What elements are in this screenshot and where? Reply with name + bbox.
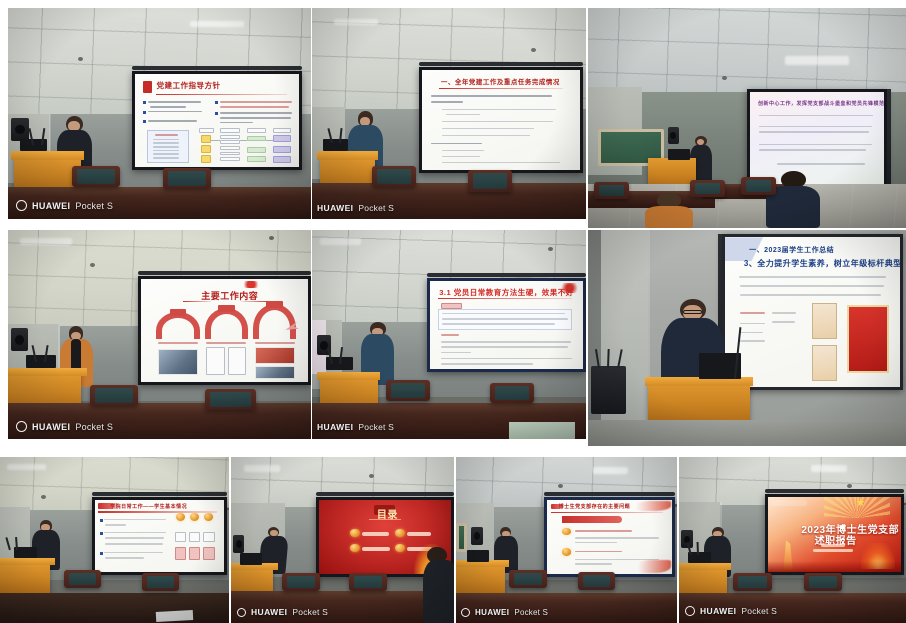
diagram-node <box>220 135 240 139</box>
block-header <box>562 516 622 523</box>
diagram-node <box>220 157 240 161</box>
slide-footer-line <box>821 544 845 547</box>
toc-bullet-icon <box>350 529 359 537</box>
chair-pad <box>77 169 115 184</box>
slide-document <box>228 347 246 376</box>
photo-4-image: 主要工作内容 <box>8 230 311 439</box>
laptop <box>668 149 690 160</box>
arch-cap <box>266 301 283 308</box>
photo-5-image: 3.1 党员日常教育方法生硬，效果不好 <box>312 230 586 439</box>
slide-text-line <box>441 363 533 365</box>
smoke-detector-icon <box>369 474 374 478</box>
diagram-item <box>153 157 179 159</box>
ceiling-light <box>811 465 847 472</box>
diagram-node <box>189 547 201 560</box>
slide-surface: 学院日常工作——学生基本情况 <box>95 500 224 572</box>
diagram-connector <box>266 140 273 141</box>
bullet-marker <box>215 101 218 104</box>
ceiling-light <box>593 467 628 474</box>
toc-item-label <box>407 532 431 536</box>
slide-text-line <box>772 312 797 314</box>
bullet-marker <box>100 532 103 535</box>
bullet-marker <box>100 519 103 522</box>
ceiling-light <box>785 56 849 65</box>
slide-text-line <box>740 332 763 334</box>
certificate <box>847 305 889 374</box>
photo-cell-1[interactable]: 党建工作指导方针 <box>8 8 311 219</box>
numbered-bullet-icon <box>562 548 571 555</box>
arch-cap <box>218 305 235 312</box>
laptop <box>467 550 489 562</box>
slide-text-line <box>575 530 632 532</box>
slide-text-line <box>442 109 556 111</box>
ribbon-decor <box>638 560 670 573</box>
slide-text-line <box>220 101 292 103</box>
ceiling-light <box>334 19 378 25</box>
ceiling-light <box>190 21 245 27</box>
slide-text-line <box>777 163 865 165</box>
star-icon: ★ <box>856 498 866 509</box>
slide-text-line <box>740 285 884 287</box>
chair <box>578 572 616 590</box>
diagram-node <box>203 547 215 560</box>
diagram-header <box>199 128 214 133</box>
av-equipment-rack <box>591 366 626 414</box>
slide-text-line <box>442 318 567 320</box>
loudspeaker <box>233 535 244 553</box>
diagram-node <box>247 136 267 142</box>
diagram-header <box>247 128 267 133</box>
slide-text-line <box>104 519 166 521</box>
chair <box>733 573 772 591</box>
smoke-detector-icon <box>847 484 852 488</box>
diagram-node <box>201 135 211 143</box>
photo-cell-8[interactable]: 目录 <box>231 457 454 623</box>
institution-banner <box>772 500 806 506</box>
screen-roller <box>419 62 583 66</box>
diagram-node <box>189 532 201 542</box>
loudspeaker <box>471 527 482 545</box>
chair-pad <box>147 576 174 588</box>
slide-text-line <box>442 135 529 137</box>
arch-cap <box>170 309 187 316</box>
toc-bullet-icon <box>395 544 404 552</box>
lectern-top <box>317 151 377 159</box>
slide-text-line <box>220 112 292 114</box>
chair <box>72 166 120 187</box>
toc-bullet-icon <box>395 529 404 537</box>
screen-roller <box>765 489 903 493</box>
arch-shape <box>205 308 248 339</box>
diagram-node <box>175 532 187 542</box>
chair <box>64 570 101 588</box>
slide-surface: 一、全年党建工作及重点任务完成情况 <box>422 70 580 170</box>
photo-1-image: 党建工作指导方针 <box>8 8 311 219</box>
diagram-header <box>273 128 291 133</box>
diagram-item <box>153 146 179 148</box>
slide-text-line <box>431 101 463 103</box>
photo-cell-10[interactable]: ★ 2023年博士生党支部 述职报告 <box>679 457 906 623</box>
bullet-marker <box>143 120 146 123</box>
screen-roller <box>427 273 586 277</box>
slide-text-line <box>441 346 568 348</box>
chair-pad <box>168 171 206 186</box>
slide-text-line <box>575 537 660 539</box>
chair-pad <box>599 185 624 197</box>
bullet-marker <box>100 552 103 555</box>
chair <box>594 182 629 200</box>
photo-collage: 党建工作指导方针 <box>0 0 906 623</box>
slide-text-line <box>759 126 871 128</box>
conference-table <box>312 183 586 219</box>
pillar-label <box>158 342 198 344</box>
photo-cell-2[interactable]: 一、全年党建工作及重点任务完成情况 <box>312 8 586 219</box>
chair-pad <box>473 173 507 188</box>
screen-roller <box>138 271 311 275</box>
slide-text-line <box>442 128 534 130</box>
glasses-icon <box>683 310 702 314</box>
conference-table <box>0 593 229 623</box>
projection-screen: 主要工作内容 <box>138 276 311 385</box>
slide-title: 3.1 党员日常教育方法生硬，效果不好 <box>439 287 574 298</box>
slide-text-line <box>105 557 144 559</box>
diagram-node <box>204 513 213 521</box>
projection-screen: 一、全年党建工作及重点任务完成情况 <box>419 67 583 173</box>
slide-text-line <box>220 106 289 108</box>
smoke-detector-icon <box>558 484 563 488</box>
photo-3-image: 创新中心工作，发挥党支部战斗堡垒和党员先锋模范作用 <box>588 8 906 228</box>
photo-cell-4[interactable]: 主要工作内容 <box>8 230 311 439</box>
title-underline <box>98 511 217 513</box>
slide-text-line <box>759 149 866 151</box>
section-label <box>740 312 765 314</box>
chair-pad <box>287 576 315 588</box>
slide-photo <box>158 349 198 376</box>
audience-body <box>423 560 454 623</box>
audience-member <box>645 193 693 228</box>
slide-text-line <box>772 321 795 323</box>
lectern-top <box>11 151 84 159</box>
ceiling-light <box>244 465 280 472</box>
slide-title: 创新中心工作，发挥党支部战斗堡垒和党员先锋模范作用 <box>758 100 884 107</box>
diagram-node <box>176 513 185 521</box>
photo-6-image: 一、2023届学生工作总结 3、全力提升学生素养，树立年级标杆典型 <box>588 230 906 446</box>
screen-roller <box>92 492 227 496</box>
chair <box>205 389 257 410</box>
diagram-node <box>273 156 291 163</box>
conference-table <box>231 591 454 623</box>
title-underline <box>183 301 211 303</box>
title-underline <box>439 88 563 90</box>
slide-text-line <box>740 323 765 325</box>
slide-surface: 主要工作内容 <box>141 279 308 382</box>
title-underline <box>551 512 663 514</box>
screen-roller <box>132 66 302 70</box>
slide-4: 主要工作内容 <box>141 279 308 382</box>
title-underline <box>156 94 287 96</box>
chair-pad <box>377 169 411 184</box>
chair <box>490 383 534 404</box>
chair <box>349 573 387 591</box>
chair-pad <box>695 183 720 195</box>
screen-roller <box>316 492 454 496</box>
party-emblem-icon <box>143 81 151 93</box>
certificate <box>812 345 837 381</box>
chair <box>509 570 547 588</box>
chair <box>163 168 211 189</box>
projection-screen: 学院日常工作——学生基本情况 <box>92 497 227 575</box>
diagram-node <box>203 532 215 542</box>
photo-cell-6[interactable]: 一、2023届学生工作总结 3、全力提升学生素养，树立年级标杆典型 <box>588 230 906 446</box>
diagram-header <box>220 128 240 133</box>
chair-pad <box>738 576 767 588</box>
lectern-top <box>679 563 731 570</box>
slide-10: ★ 2023年博士生党支部 述职报告 <box>768 497 900 572</box>
paper-document <box>509 422 575 439</box>
chair-pad <box>391 383 425 398</box>
diagram-node <box>220 152 240 156</box>
slide-photo <box>255 366 295 378</box>
projection-screen: 博士生党支部存在的主要问题 <box>544 497 674 577</box>
slide-title: 一、2023届学生工作总结 <box>749 245 834 255</box>
slide-text-line <box>740 340 765 342</box>
chair <box>386 380 430 401</box>
diagram-node <box>247 156 267 162</box>
loudspeaker <box>11 118 29 141</box>
chair-pad <box>746 180 771 192</box>
chair <box>690 180 725 198</box>
diagram-item <box>153 139 179 141</box>
photo-cell-3[interactable]: 创新中心工作，发挥党支部战斗堡垒和党员先锋模范作用 <box>588 8 906 228</box>
slide-text-line <box>759 144 871 146</box>
chair-pad <box>809 576 838 588</box>
smoke-detector-icon <box>548 247 553 251</box>
slide-text-line <box>740 294 880 296</box>
laptop <box>688 552 711 564</box>
diagram-item <box>153 142 179 144</box>
diagram-node <box>201 145 211 153</box>
slide-text-line <box>220 117 290 119</box>
ribbon-decor <box>636 501 671 511</box>
laptop <box>240 553 262 565</box>
chair-pad <box>95 388 133 403</box>
chair <box>468 170 512 191</box>
slide-text-line <box>575 542 617 544</box>
slide-text-line <box>442 162 559 164</box>
slide-text-line <box>148 101 200 103</box>
slide-text-line <box>442 156 480 158</box>
slide-7: 学院日常工作——学生基本情况 <box>95 500 224 572</box>
chair-pad <box>354 576 382 588</box>
photo-2-image: 一、全年党建工作及重点任务完成情况 <box>312 8 586 219</box>
toc-item-label <box>362 547 390 551</box>
slide-2: 一、全年党建工作及重点任务完成情况 <box>422 70 580 170</box>
slide-text-line <box>442 323 555 325</box>
slide-text-line <box>739 276 886 278</box>
screen-roller <box>544 492 674 496</box>
toc-bullet-icon <box>350 544 359 552</box>
screen-rail <box>887 89 891 188</box>
certificate <box>812 303 837 339</box>
bullet-marker <box>215 112 218 115</box>
photo-9-image: 博士生党支部存在的主要问题 <box>456 457 677 623</box>
slide-title: 一、全年党建工作及重点任务完成情况 <box>441 76 560 86</box>
diagram-node <box>273 135 291 142</box>
photo-7-image: 学院日常工作——学生基本情况 <box>0 457 229 623</box>
chair <box>142 573 179 591</box>
slide-text-line <box>441 352 472 354</box>
floor <box>588 420 906 446</box>
smoke-detector-icon <box>269 236 274 240</box>
slide-text-line <box>220 122 253 124</box>
slide-text-line <box>104 532 166 534</box>
slide-text-line <box>431 95 551 97</box>
chair <box>372 166 416 187</box>
ceiling-light <box>20 238 72 244</box>
projection-screen: 一、2023届学生工作总结 3、全力提升学生素养，树立年级标杆典型 <box>722 234 903 390</box>
bullet-marker <box>143 101 146 104</box>
laptop <box>323 139 348 152</box>
photo-8-image: 目录 <box>231 457 454 623</box>
audience-member <box>423 547 454 623</box>
slide-9: 博士生党支部存在的主要问题 <box>547 500 671 574</box>
slide-5: 3.1 党员日常教育方法生硬，效果不好 <box>430 281 583 369</box>
diagram-node <box>220 146 240 150</box>
diagram-label <box>155 134 178 136</box>
chair-pad <box>495 386 529 401</box>
slide-title: 博士生党支部存在的主要问题 <box>559 503 631 510</box>
slide-surface: ★ 2023年博士生党支部 述职报告 <box>768 497 900 572</box>
slide-text-line <box>759 131 869 133</box>
audience-body <box>645 206 693 228</box>
diagram-node <box>247 147 267 153</box>
slide-photo <box>255 347 295 364</box>
ceiling-light <box>320 238 361 244</box>
diagram-connector <box>211 140 221 141</box>
photo-cell-7[interactable]: 学院日常工作——学生基本情况 <box>0 457 229 623</box>
conference-table <box>8 403 311 439</box>
slide-6: 一、2023届学生工作总结 3、全力提升学生素养，树立年级标杆典型 <box>725 237 900 387</box>
university-logo-icon <box>241 281 261 288</box>
diagram-node <box>273 146 291 153</box>
chair <box>804 573 843 591</box>
slide-text-line <box>446 114 481 116</box>
chair-pad <box>69 573 96 585</box>
slide-text-line <box>431 143 482 145</box>
ceiling-light <box>7 464 46 471</box>
diagram-node <box>201 155 211 162</box>
bullet-marker <box>143 111 146 114</box>
diagram-connector <box>240 140 247 141</box>
laptop <box>20 139 47 152</box>
slide-text-line <box>150 106 186 108</box>
chair-pad <box>514 573 542 585</box>
conference-table <box>8 187 311 219</box>
slide-text-line <box>575 563 612 565</box>
slide-text-line <box>575 551 622 553</box>
photo-cell-9[interactable]: 博士生党支部存在的主要问题 <box>456 457 677 623</box>
smoke-detector-icon <box>722 76 727 80</box>
loudspeaker <box>668 127 679 145</box>
lectern-top <box>317 372 380 380</box>
slide-text-line <box>104 552 163 554</box>
chair-pad <box>210 392 252 407</box>
toc-divider <box>369 519 401 520</box>
lectern-top <box>0 558 55 565</box>
slide-text-line <box>759 115 873 117</box>
slide-text-line <box>442 150 483 152</box>
slide-1: 党建工作指导方针 <box>135 74 299 167</box>
slide-text-line <box>441 358 572 360</box>
slide-surface: 党建工作指导方针 <box>135 74 299 167</box>
slide-text-line <box>105 524 126 526</box>
slide-title: 党建工作指导方针 <box>156 80 220 91</box>
conference-table <box>679 593 906 623</box>
diagram-node <box>190 513 199 521</box>
block-header <box>441 334 459 336</box>
chair <box>282 573 320 591</box>
slide-subtitle: 3、全力提升学生素养，树立年级标杆典型 <box>744 258 900 269</box>
photo-cell-5[interactable]: 3.1 党员日常教育方法生硬，效果不好 <box>312 230 586 439</box>
arch-shape <box>253 304 296 339</box>
chair-pad <box>583 575 611 587</box>
slide-footer-line <box>813 549 853 552</box>
slide-text-line <box>441 341 571 343</box>
diagram-node <box>220 140 240 144</box>
lectern-top <box>8 368 87 376</box>
slide-surface: 一、2023届学生工作总结 3、全力提升学生素养，树立年级标杆典型 <box>725 237 900 387</box>
diagram-item <box>153 153 179 155</box>
smoke-detector-icon <box>78 57 83 61</box>
chalkboard <box>456 523 467 551</box>
slide-document <box>206 347 224 376</box>
slide-surface: 博士生党支部存在的主要问题 <box>547 500 671 574</box>
pillar-label <box>255 342 295 344</box>
loudspeaker <box>11 328 28 351</box>
slide-text-line <box>105 543 163 545</box>
diagram-node <box>175 547 187 560</box>
slide-surface: 3.1 党员日常教育方法生硬，效果不好 <box>430 281 583 369</box>
photo-10-image: ★ 2023年博士生党支部 述职报告 <box>679 457 906 623</box>
slide-text-line <box>148 120 197 122</box>
conference-table <box>456 593 677 623</box>
slide-text-line <box>148 111 202 113</box>
toc-item-label <box>362 532 388 536</box>
slide-text-line <box>442 121 553 123</box>
projection-screen: ★ 2023年博士生党支部 述职报告 <box>765 494 903 575</box>
title-underline <box>438 298 573 300</box>
laptop <box>26 355 56 368</box>
slide-text-line <box>105 537 164 539</box>
pillar-label <box>206 342 246 344</box>
slide-title: 学院日常工作——学生基本情况 <box>110 503 187 510</box>
chair <box>741 177 776 195</box>
chair <box>90 385 138 406</box>
skyline-decor <box>768 561 900 572</box>
projection-screen: 3.1 党员日常教育方法生硬，效果不好 <box>427 278 586 372</box>
projection-screen: 党建工作指导方针 <box>132 71 302 170</box>
numbered-bullet-icon <box>562 528 571 535</box>
